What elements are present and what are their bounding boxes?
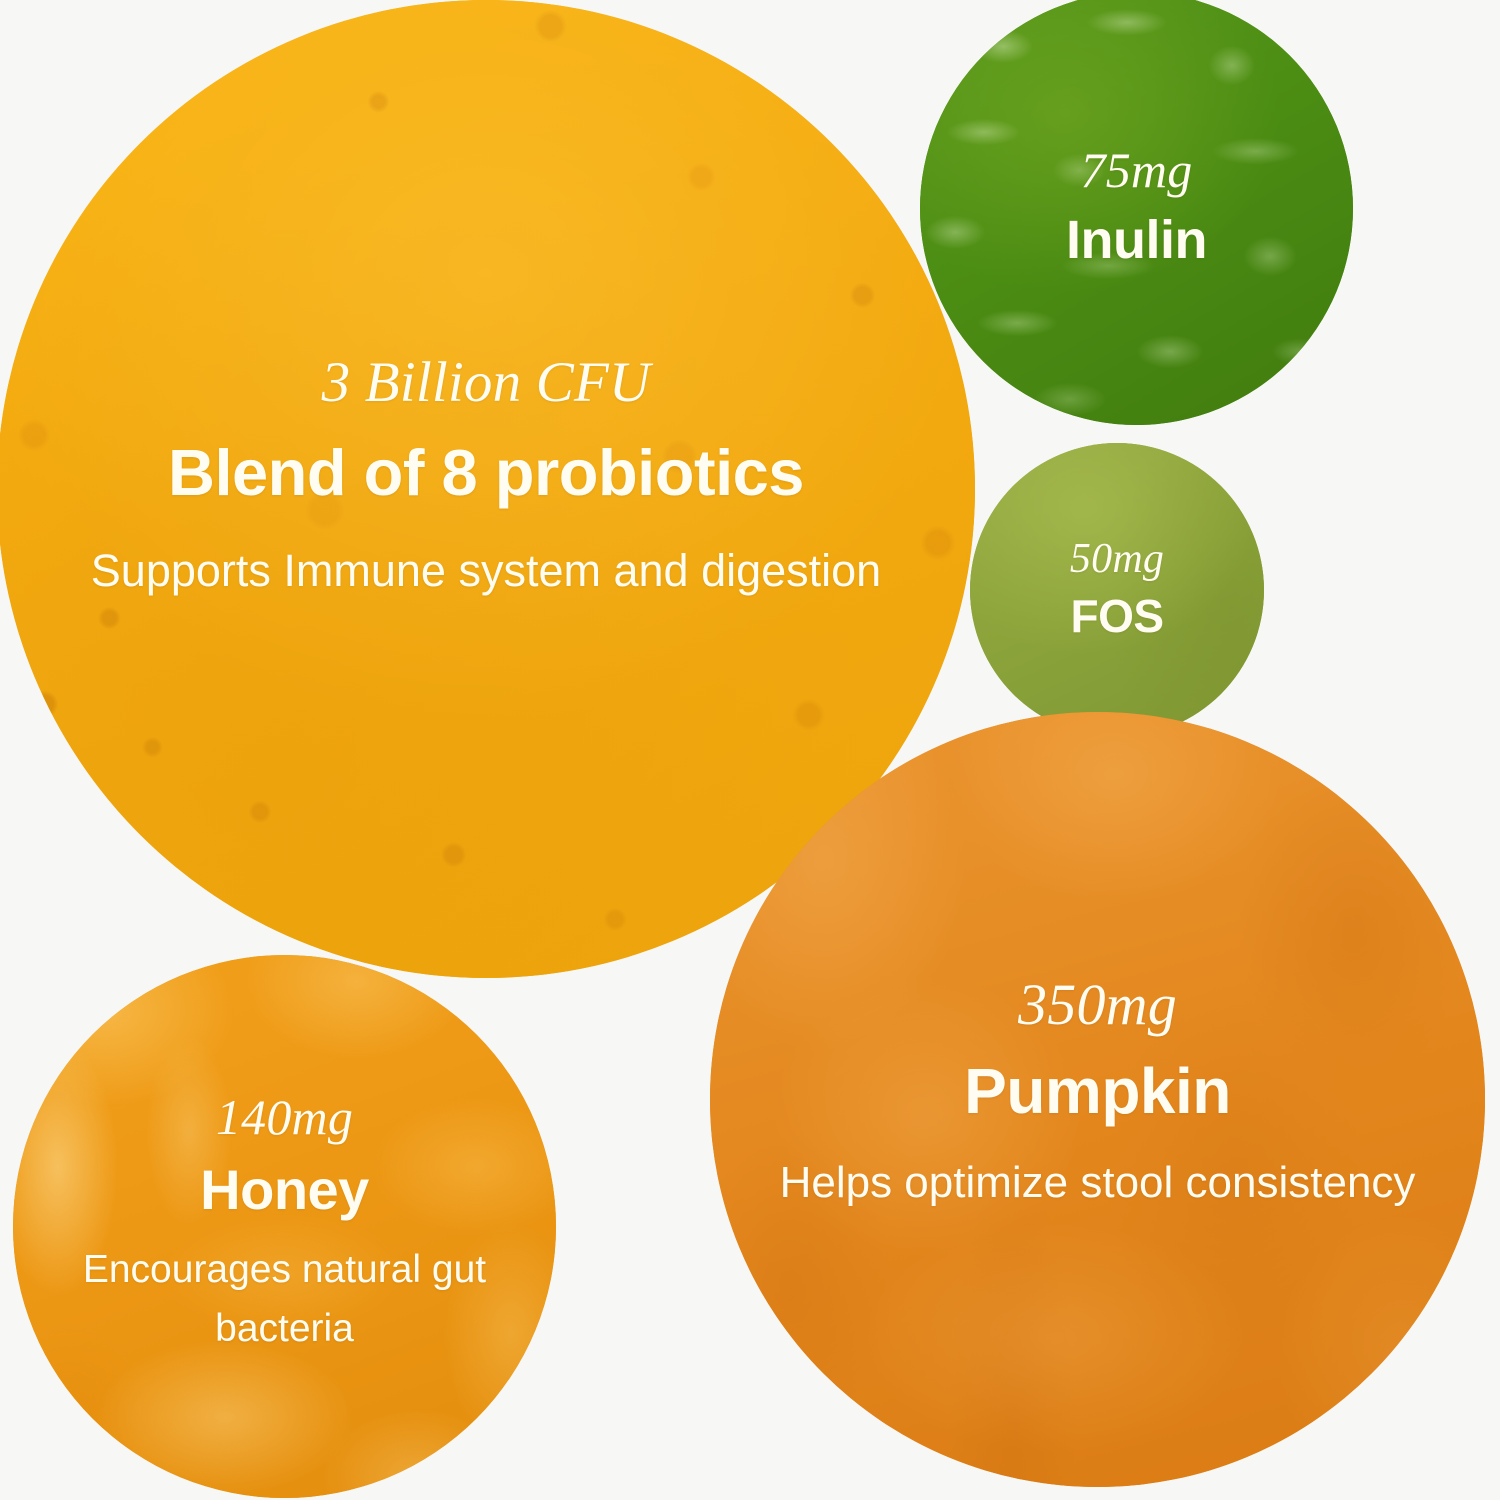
probiotics-title: Blend of 8 probiotics (0, 437, 975, 510)
probiotics-amount: 3 Billion CFU (0, 351, 975, 415)
ingredient-bubble-honey: 140mg Honey Encourages natural gut bacte… (13, 955, 556, 1498)
probiotics-content: 3 Billion CFU Blend of 8 probiotics Supp… (0, 351, 975, 608)
inulin-title: Inulin (920, 210, 1353, 270)
pumpkin-amount: 350mg (710, 973, 1485, 1038)
inulin-amount: 75mg (920, 142, 1353, 198)
fos-title: FOS (970, 591, 1264, 643)
ingredient-bubble-inulin: 75mg Inulin (920, 0, 1353, 425)
infographic-canvas: 3 Billion CFU Blend of 8 probiotics Supp… (0, 0, 1500, 1500)
pumpkin-content: 350mg Pumpkin Helps optimize stool consi… (710, 973, 1485, 1216)
honey-description: Encourages natural gut bacteria (13, 1241, 556, 1358)
ingredient-bubble-pumpkin: 350mg Pumpkin Helps optimize stool consi… (710, 712, 1485, 1487)
inulin-content: 75mg Inulin (920, 142, 1353, 270)
honey-amount: 140mg (13, 1089, 556, 1145)
honey-title: Honey (13, 1159, 556, 1222)
pumpkin-description: Helps optimize stool consistency (710, 1150, 1485, 1216)
honey-content: 140mg Honey Encourages natural gut bacte… (13, 1089, 556, 1359)
fos-amount: 50mg (970, 536, 1264, 583)
fos-content: 50mg FOS (970, 536, 1264, 643)
ingredient-bubble-fos: 50mg FOS (970, 443, 1264, 737)
pumpkin-title: Pumpkin (710, 1056, 1485, 1128)
probiotics-description: Supports Immune system and digestion (0, 535, 975, 607)
